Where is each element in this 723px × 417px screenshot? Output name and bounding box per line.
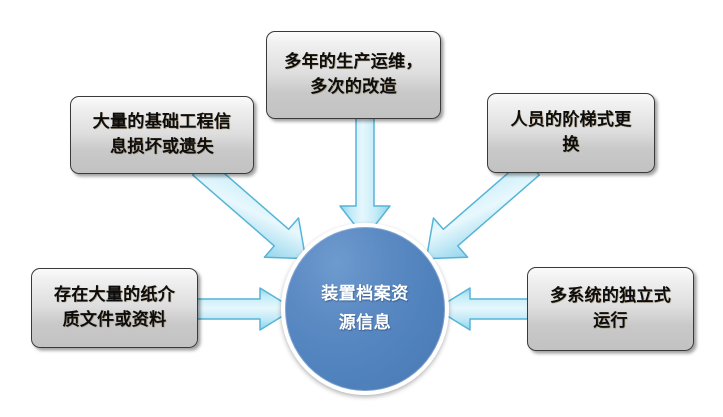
diagram-canvas: 装置档案资 源信息 多年的生产运维， 多次的改造 大量的基础工程信 息损坏或遗失… xyxy=(0,0,723,417)
node-box-lower-right[interactable]: 多系统的独立式 运行 xyxy=(527,267,694,351)
hub-label: 装置档案资 源信息 xyxy=(321,280,409,338)
node-box-lower-left-label: 存在大量的纸介 质文件或资料 xyxy=(47,283,182,332)
hub-central-node[interactable]: 装置档案资 源信息 xyxy=(281,223,449,395)
node-box-lower-left[interactable]: 存在大量的纸介 质文件或资料 xyxy=(31,268,198,348)
arrow-diagonal-from-upper-right-node xyxy=(412,160,534,268)
node-box-lower-right-label: 多系统的独立式 运行 xyxy=(543,284,678,333)
node-box-upper-left[interactable]: 大量的基础工程信 息损坏或遗失 xyxy=(70,96,254,174)
node-box-top[interactable]: 多年的生产运维， 多次的改造 xyxy=(266,31,441,119)
node-box-top-label: 多年的生产运维， 多次的改造 xyxy=(277,50,429,99)
node-box-upper-right[interactable]: 人员的阶梯式更 换 xyxy=(487,93,655,173)
node-box-upper-left-label: 大量的基础工程信 息损坏或遗失 xyxy=(86,110,238,159)
node-box-upper-right-label: 人员的阶梯式更 换 xyxy=(503,108,638,157)
